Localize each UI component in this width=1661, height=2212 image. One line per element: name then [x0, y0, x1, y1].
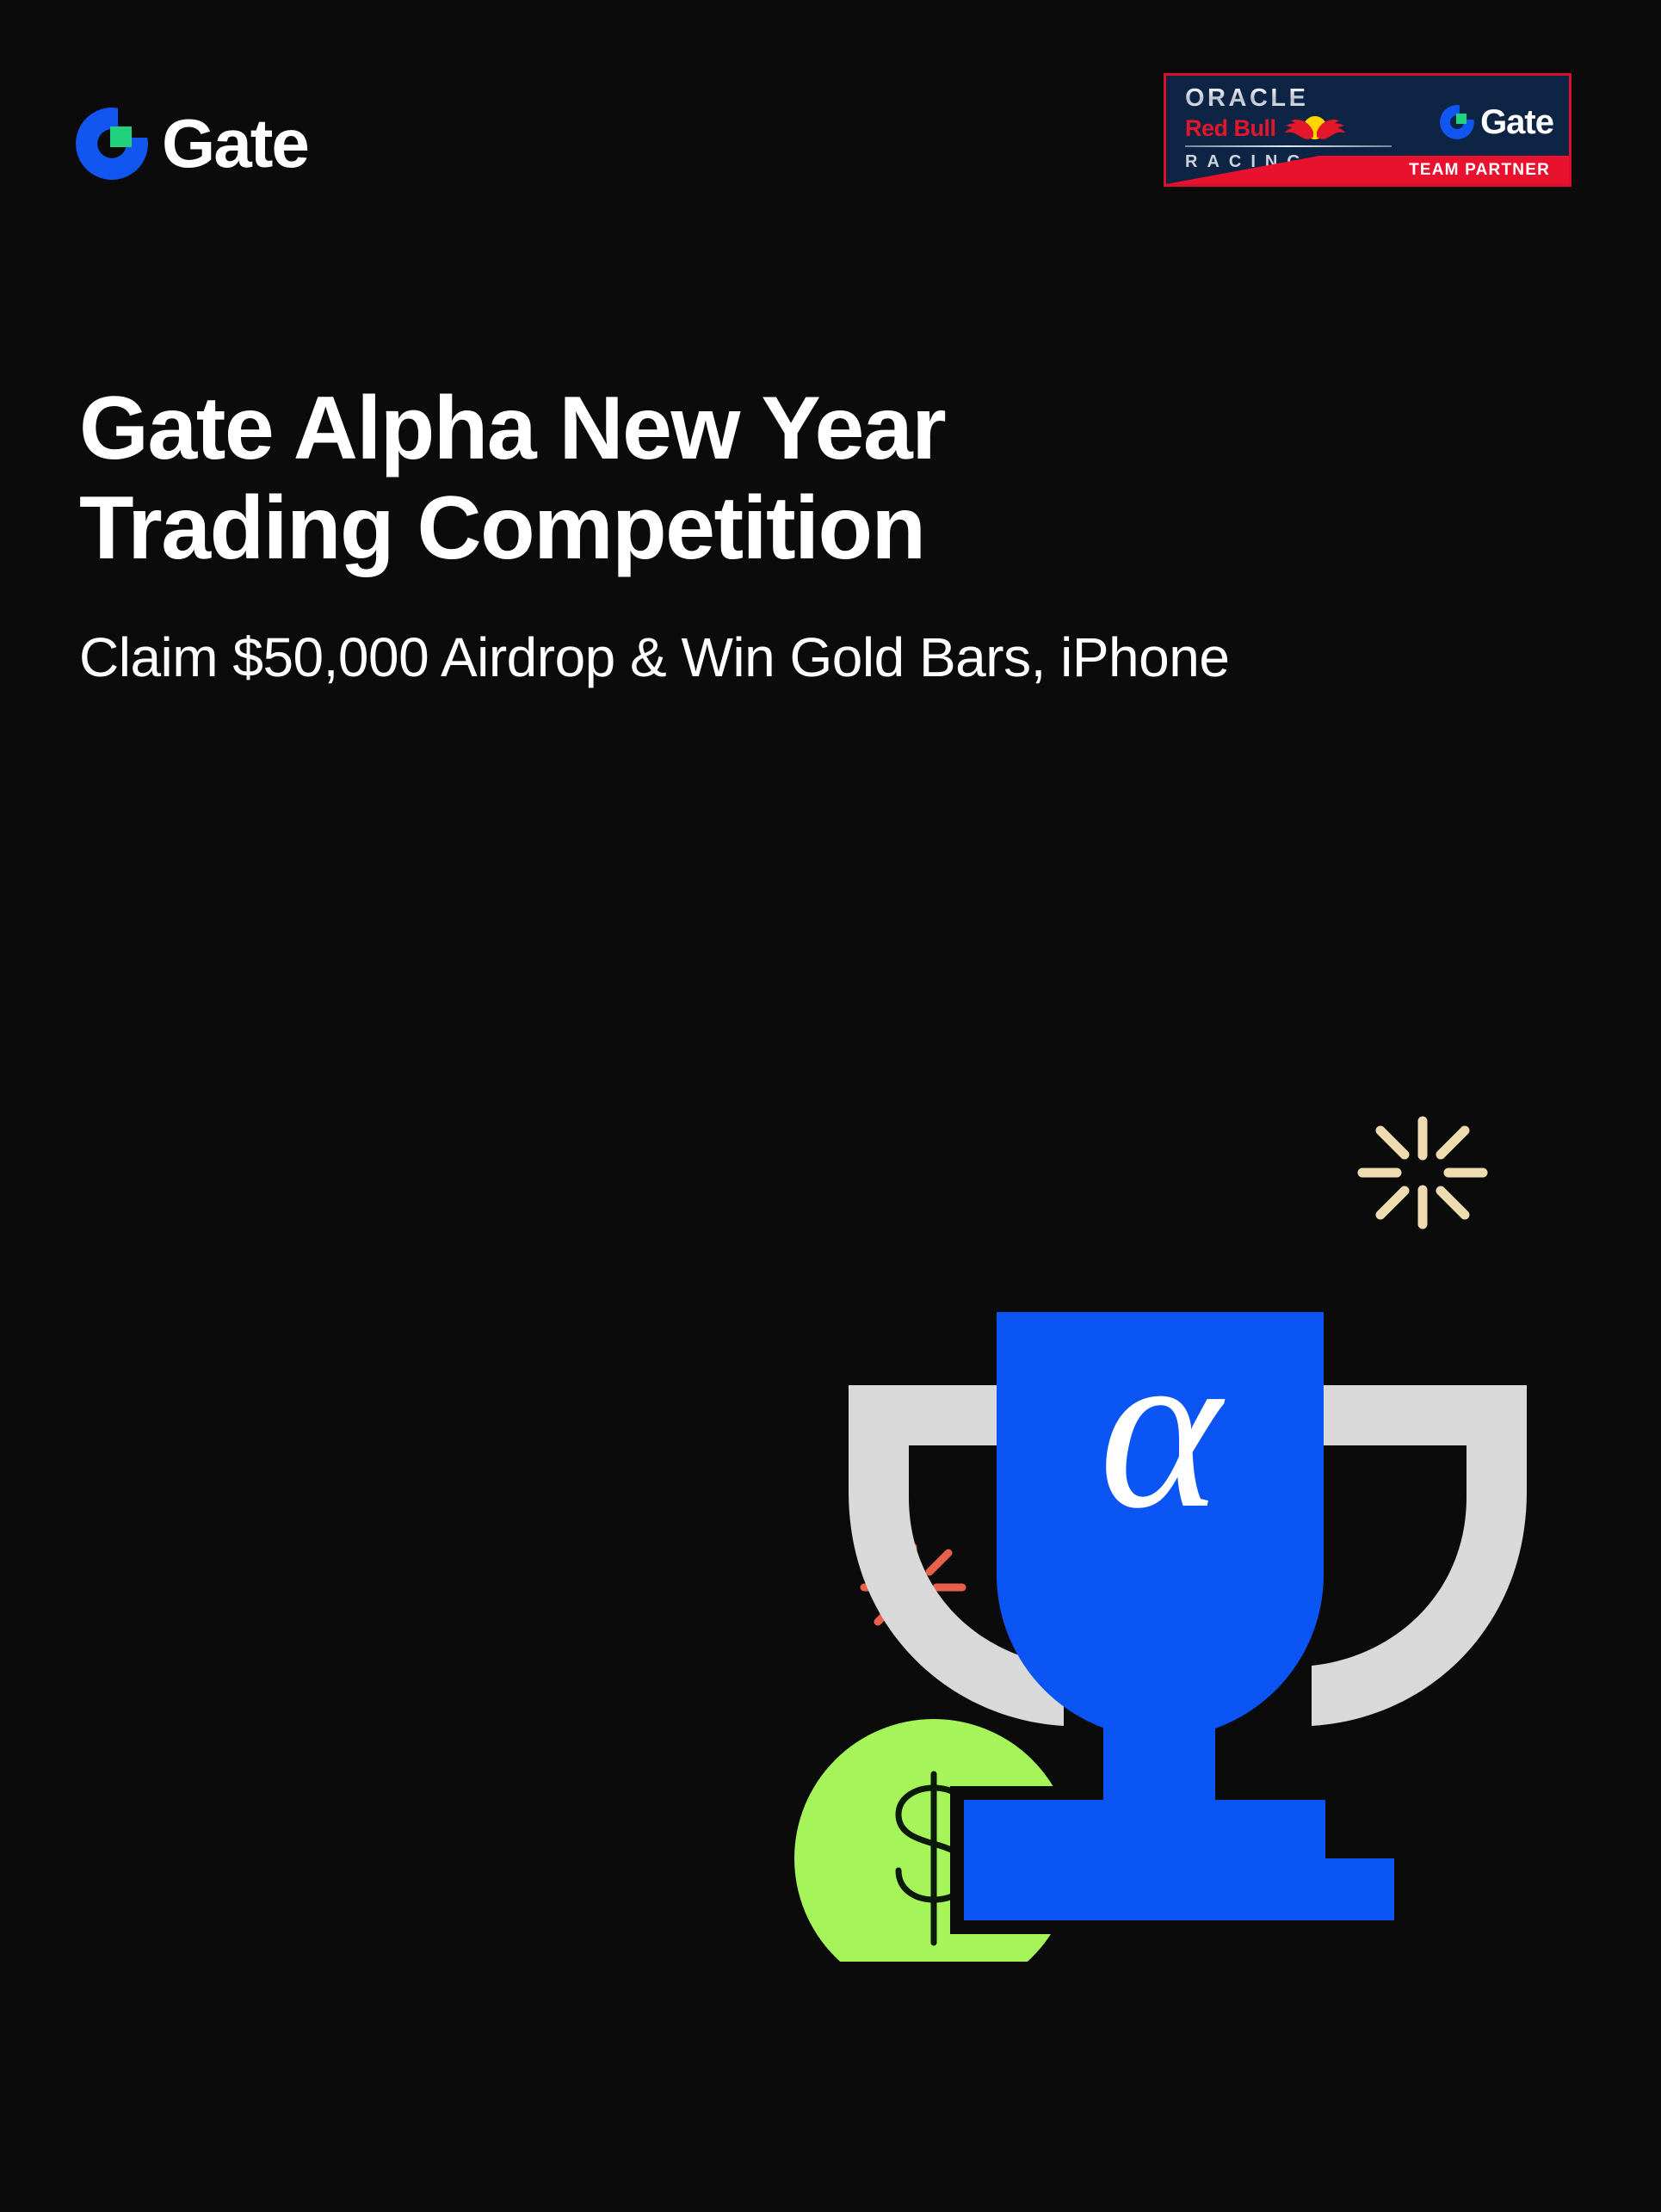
red-bull-wordmark: Red Bull — [1185, 117, 1276, 140]
page-subtitle: Claim $50,000 Airdrop & Win Gold Bars, i… — [79, 624, 1473, 691]
badge-divider — [1185, 145, 1392, 147]
red-bull-charging-bulls-icon — [1281, 114, 1349, 142]
partner-gate-wordmark: Gate — [1480, 105, 1553, 139]
trophy-handle-right — [1312, 1385, 1527, 1726]
gate-mark-square — [1456, 114, 1466, 124]
alpha-symbol: α — [1099, 1299, 1226, 1556]
sparkle-icon — [1362, 1121, 1483, 1224]
top-bar: Gate ORACLE Red Bull RACING — [0, 0, 1661, 258]
team-partner-label: TEAM PARTNER — [1409, 161, 1550, 180]
red-bull-racing-partner-badge[interactable]: ORACLE Red Bull RACING — [1164, 73, 1571, 187]
alpha-trophy-illustration: α — [792, 1101, 1584, 1962]
trophy-base-upper-front — [964, 1800, 1325, 1862]
gate-wordmark: Gate — [162, 109, 308, 178]
partner-gate-logo: Gate — [1440, 105, 1553, 139]
oracle-wordmark: ORACLE — [1185, 86, 1393, 111]
trophy-base-lower-front — [964, 1858, 1394, 1920]
gate-brand-logo[interactable]: Gate — [76, 108, 308, 180]
gate-mark-square — [110, 126, 131, 147]
gate-logo-mark-icon — [76, 108, 148, 180]
gate-logo-mark-icon — [1440, 105, 1474, 139]
red-bull-row: Red Bull — [1185, 114, 1393, 142]
hero-text-block: Gate Alpha New Year Trading Competition … — [79, 379, 1215, 691]
page-title: Gate Alpha New Year Trading Competition — [79, 379, 1215, 579]
